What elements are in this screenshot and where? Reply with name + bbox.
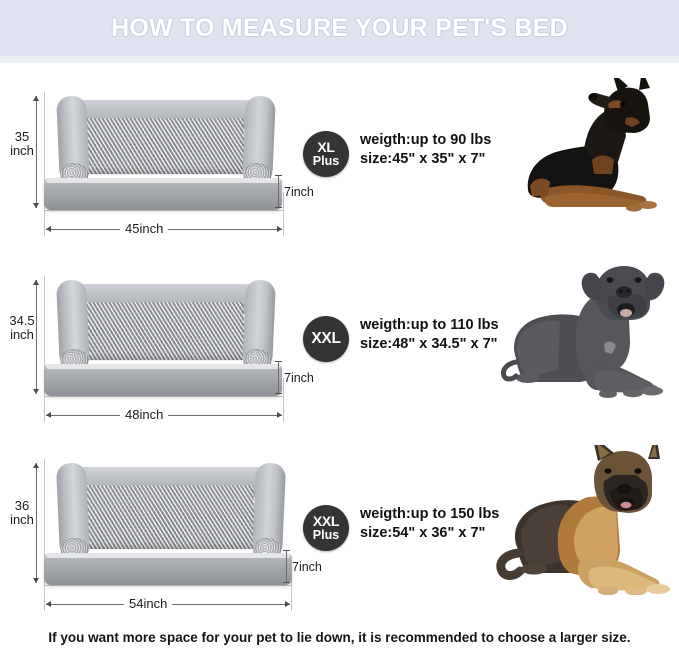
header-divider-strip xyxy=(0,56,679,63)
bed-mattress-surface xyxy=(81,118,244,174)
badge-line1: XXL xyxy=(311,331,340,347)
badge-line2: Plus xyxy=(313,529,339,542)
thickness-dimension-label: 7inch xyxy=(284,185,314,199)
guide-line-drop-right xyxy=(283,192,284,236)
thickness-dimension-label: 7inch xyxy=(284,371,314,385)
thickness-dimension-label: 7inch xyxy=(292,560,322,574)
footer-note-text: If you want more space for your pet to l… xyxy=(48,630,630,645)
width-dimension-label: 48inch xyxy=(120,407,168,422)
bed-left-bolster xyxy=(56,462,90,559)
bed-illustration-zone: 34.5 inch 48inch 7inch xyxy=(0,258,300,438)
size-spec: size:54" x 36" x 7" xyxy=(360,524,499,543)
guide-line-drop-left xyxy=(44,210,45,236)
bed-base-platform xyxy=(44,364,282,396)
bed-base-highlight xyxy=(46,364,280,369)
guide-line-bottom xyxy=(44,585,292,586)
bed-right-bolster xyxy=(252,462,286,559)
bed-mattress-surface xyxy=(81,302,244,360)
bed-left-bolster xyxy=(56,95,90,184)
width-dimension-label: 45inch xyxy=(120,221,168,236)
bed-left-bolster xyxy=(56,279,90,370)
depth-dimension-label: 35 inch xyxy=(2,130,42,158)
badge-line1: XXL xyxy=(313,514,339,528)
size-badge-xl-plus: XL Plus xyxy=(303,131,349,177)
depth-dimension-label: 34.5 inch xyxy=(2,314,42,342)
size-badge-xxl: XXL xyxy=(303,316,349,362)
bed-base-highlight xyxy=(46,553,290,558)
guide-line-bottom xyxy=(44,396,284,397)
dog-photo-great-dane xyxy=(500,258,675,403)
weight-spec: weigth:up to 110 lbs xyxy=(360,316,499,335)
pet-bed-graphic xyxy=(44,276,282,396)
thickness-cap-top xyxy=(275,361,282,362)
bed-base-platform xyxy=(44,178,282,210)
bed-base-highlight xyxy=(46,178,280,183)
footer-note: If you want more space for your pet to l… xyxy=(0,624,679,651)
bed-right-bolster xyxy=(242,279,276,370)
header-banner: HOW TO MEASURE YOUR PET'S BED xyxy=(0,0,679,56)
weight-spec: weigth:up to 90 lbs xyxy=(360,131,491,150)
dog-photo-doberman xyxy=(522,78,674,218)
bed-mattress-surface xyxy=(81,485,254,549)
size-spec: size:45" x 35" x 7" xyxy=(360,150,491,169)
thickness-cap-top xyxy=(283,550,290,551)
size-spec: size:48" x 34.5" x 7" xyxy=(360,335,499,354)
badge-line1: XL xyxy=(317,140,334,154)
page-title: HOW TO MEASURE YOUR PET'S BED xyxy=(111,14,568,43)
weight-spec: weigth:up to 150 lbs xyxy=(360,505,499,524)
bed-illustration-zone: 36 inch 54inch 7inch xyxy=(0,443,300,623)
thickness-cap-bottom xyxy=(275,207,282,208)
spec-block: weigth:up to 150 lbs size:54" x 36" x 7" xyxy=(360,505,499,543)
thickness-cap-bottom xyxy=(275,393,282,394)
guide-line-drop-right xyxy=(283,378,284,422)
badge-line2: Plus xyxy=(313,155,339,168)
thickness-cap-top xyxy=(275,175,282,176)
size-row-xxl: 34.5 inch 48inch 7inch XXL weigth:up to … xyxy=(0,258,679,438)
doberman-illustration xyxy=(522,78,674,218)
bed-illustration-zone: 35 inch 45inch 7inch xyxy=(0,72,300,252)
size-badge-xxl-plus: XXL Plus xyxy=(303,505,349,551)
guide-line-bottom xyxy=(44,210,284,211)
spec-block: weigth:up to 110 lbs size:48" x 34.5" x … xyxy=(360,316,499,354)
size-row-xl-plus: 35 inch 45inch 7inch XL Plus weigth:up t… xyxy=(0,72,679,252)
spec-block: weigth:up to 90 lbs size:45" x 35" x 7" xyxy=(360,131,491,169)
pet-bed-graphic xyxy=(44,92,282,210)
dog-photo-german-shepherd xyxy=(496,445,676,595)
bed-base-platform xyxy=(44,553,292,585)
depth-dimension-label: 36 inch xyxy=(2,499,42,527)
thickness-bar xyxy=(286,550,287,583)
guide-line-drop-left xyxy=(44,585,45,611)
pet-bed-graphic xyxy=(44,459,292,585)
thickness-bar xyxy=(278,361,279,394)
german-shepherd-illustration xyxy=(496,445,676,595)
bed-right-bolster xyxy=(242,95,276,184)
thickness-bar xyxy=(278,175,279,208)
size-row-xxl-plus: 36 inch 54inch 7inch XXL Plus weigth:up … xyxy=(0,443,679,623)
guide-line-drop-left xyxy=(44,396,45,422)
great-dane-illustration xyxy=(500,258,675,403)
width-dimension-label: 54inch xyxy=(124,596,172,611)
thickness-cap-bottom xyxy=(283,582,290,583)
